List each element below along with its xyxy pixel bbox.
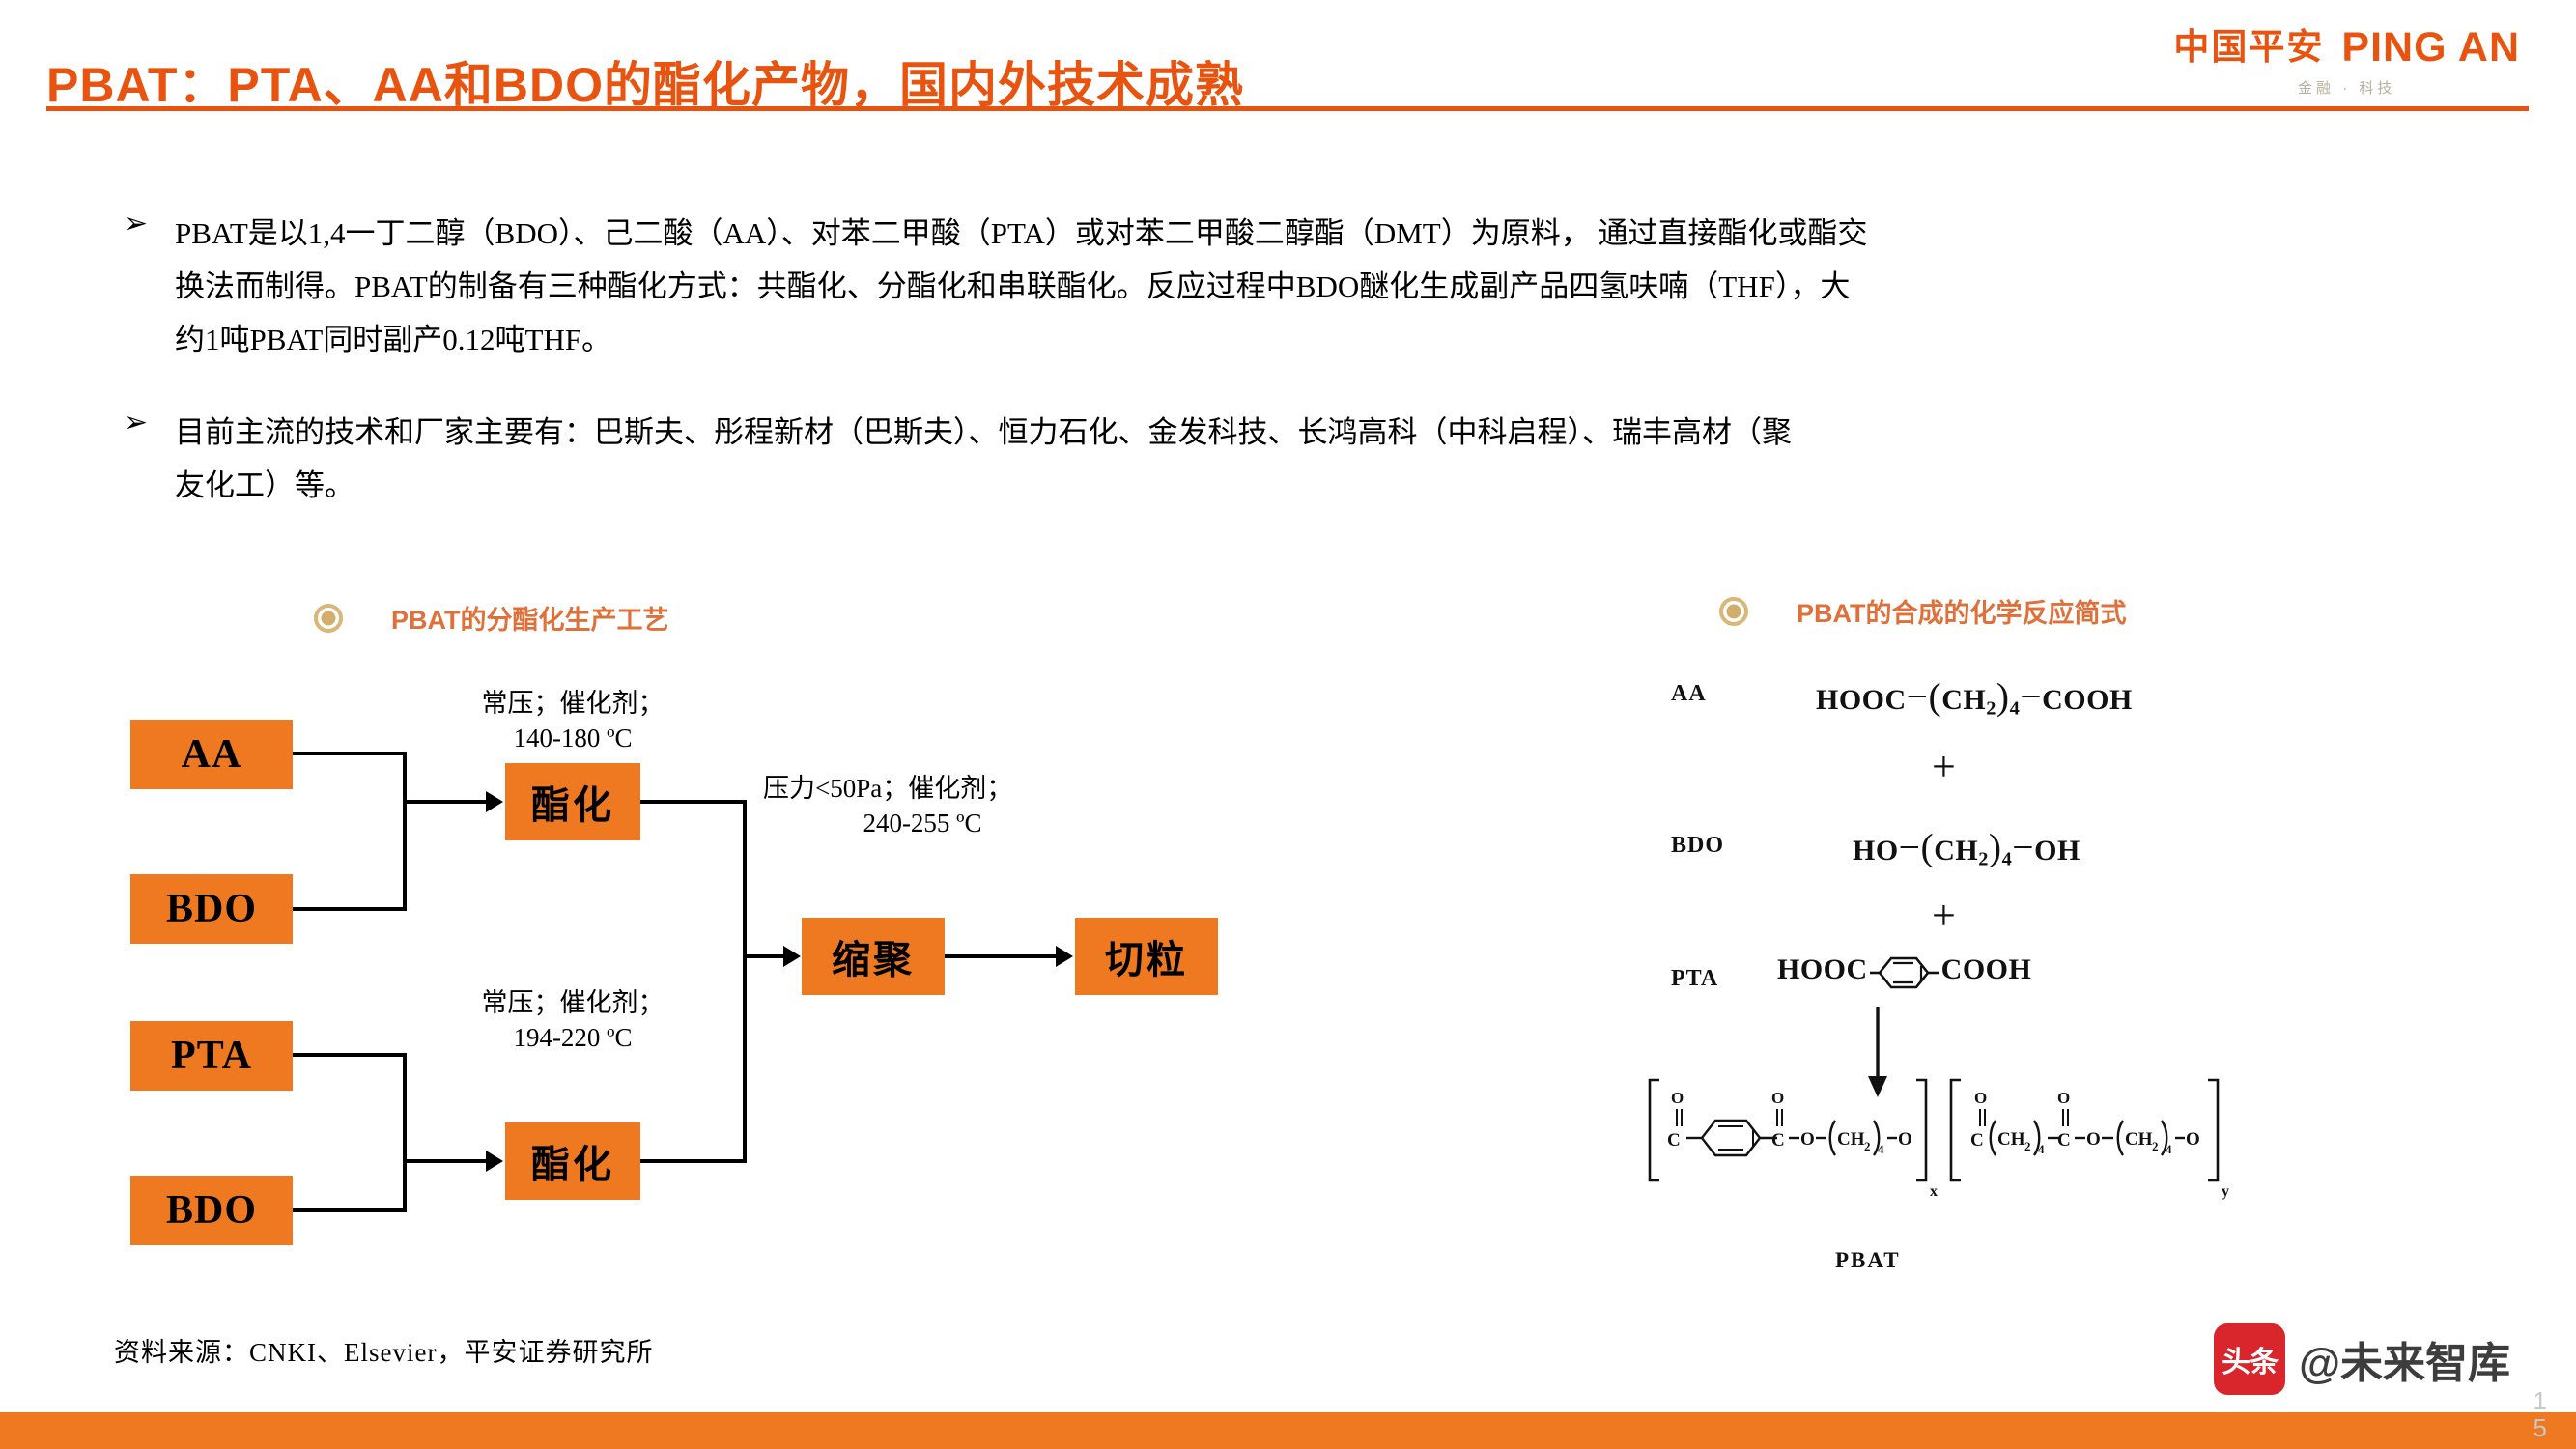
bullet-text: PBAT是以1,4一丁二醇（BDO）、己二酸（AA）、对苯二甲酸（PTA）或对苯… — [175, 207, 2519, 367]
page-number-line: 1 — [2534, 1388, 2547, 1414]
reactant-formula-bdo: HO−(CH2)4−OH — [1853, 825, 2081, 871]
flow-connector — [945, 954, 1056, 958]
process-flow-diagram: AA BDO PTA BDO 酯化 酯化 缩聚 切粒 常压；催化剂； — [0, 667, 1285, 1285]
section-heading-left: PBAT的分酯化生产工艺 — [314, 599, 669, 637]
flow-condition-middle: 压力<50Pa；催化剂； 240-255 ºC — [763, 771, 1082, 841]
logo-chinese-name: 中国平安 — [2173, 30, 2324, 66]
svg-text:C: C — [1970, 1130, 1984, 1151]
logo-tagline: 金融 · 科技 — [2173, 77, 2520, 98]
reactant-formula-aa: HOOC−(CH2)4−COOH — [1816, 674, 2133, 721]
flow-box-bdo-bottom: BDO — [130, 1176, 293, 1245]
svg-text:y: y — [2222, 1183, 2229, 1200]
bullet-line: PBAT是以1,4一丁二醇（BDO）、己二酸（AA）、对苯二甲酸（PTA）或对苯… — [175, 207, 2519, 260]
condition-line: 常压；催化剂； — [452, 686, 694, 721]
svg-text:C: C — [1667, 1130, 1681, 1151]
svg-text:2: 2 — [2024, 1139, 2031, 1153]
bullet-marker-icon: ➢ — [124, 409, 148, 438]
svg-text:2: 2 — [1864, 1139, 1871, 1153]
flow-box-aa: AA — [130, 720, 293, 789]
flow-arrowhead-icon — [783, 946, 801, 967]
svg-text:CH: CH — [2125, 1129, 2153, 1150]
bullet-dot-icon — [314, 604, 343, 633]
svg-text:CH: CH — [1997, 1129, 2025, 1150]
plus-sign-icon: + — [1932, 891, 1956, 940]
flow-connector — [403, 752, 407, 911]
bullet-line: 约1吨PBAT同时副产0.12吨THF。 — [175, 313, 2519, 366]
svg-text:O: O — [2186, 1129, 2200, 1150]
benzene-ring-icon — [1870, 952, 1939, 991]
chemical-reaction-diagram: AA HOOC−(CH2)4−COOH + BDO HO−(CH2)4−OH +… — [1642, 647, 2511, 1343]
section-heading-right: PBAT的合成的化学反应简式 — [1719, 592, 2127, 630]
bullet-item: ➢ PBAT是以1,4一丁二醇（BDO）、己二酸（AA）、对苯二甲酸（PTA）或… — [124, 207, 2519, 367]
bullet-item: ➢ 目前主流的技术和厂家主要有：巴斯夫、彤程新材（巴斯夫）、恒力石化、金发科技、… — [124, 406, 2519, 512]
pingan-logo: 中国平安 PING AN 金融 · 科技 — [2173, 27, 2520, 98]
flow-connector — [293, 1053, 407, 1057]
flow-arrowhead-icon — [486, 1151, 503, 1172]
svg-text:C: C — [2057, 1130, 2071, 1151]
flow-connector — [403, 1053, 407, 1212]
svg-text:CH: CH — [1837, 1129, 1865, 1150]
flow-connector — [403, 1159, 488, 1163]
title-divider — [46, 106, 2529, 111]
condition-line: 194-220 ºC — [452, 1020, 694, 1055]
reactant-tag-pta: PTA — [1671, 966, 1718, 992]
section-title-text: PBAT的分酯化生产工艺 — [391, 599, 669, 637]
flow-box-pelletizing: 切粒 — [1075, 918, 1218, 995]
polymer-structure: O C O C O CH — [1642, 1053, 2511, 1227]
condition-line: 140-180 ºC — [452, 721, 694, 755]
flow-box-bdo-top: BDO — [130, 874, 293, 944]
flow-condition-bottom: 常压；催化剂； 194-220 ºC — [452, 985, 694, 1056]
flow-connector — [640, 1159, 747, 1163]
svg-text:O: O — [1974, 1089, 1987, 1107]
logo-english-name: PING AN — [2341, 27, 2520, 69]
flow-connector — [293, 907, 407, 911]
flow-connector — [743, 954, 785, 958]
source-note: 资料来源：CNKI、Elsevier，平安证券研究所 — [114, 1331, 653, 1369]
flow-connector — [640, 800, 747, 804]
svg-text:x: x — [1930, 1183, 1938, 1200]
svg-text:4: 4 — [1878, 1142, 1884, 1156]
bullet-text: 目前主流的技术和厂家主要有：巴斯夫、彤程新材（巴斯夫）、恒力石化、金发科技、长鸿… — [175, 406, 2519, 512]
reactant-formula-pta: HOOC COOH — [1777, 952, 2031, 991]
condition-line: 240-255 ºC — [763, 806, 1082, 840]
svg-text:C: C — [1771, 1130, 1785, 1151]
flow-box-polycondensation: 缩聚 — [802, 918, 945, 995]
svg-text:O: O — [1771, 1089, 1784, 1107]
svg-text:O: O — [2057, 1089, 2070, 1107]
page-number: 1 5 — [2534, 1388, 2547, 1441]
bullet-marker-icon: ➢ — [124, 210, 148, 239]
condition-line: 常压；催化剂； — [452, 985, 694, 1020]
svg-text:O: O — [2086, 1129, 2101, 1150]
slide-root: 中国平安 PING AN 金融 · 科技 PBAT：PTA、AA和BDO的酯化产… — [0, 0, 2576, 1449]
flow-box-esterification-top: 酯化 — [505, 763, 640, 840]
flow-arrowhead-icon — [1056, 946, 1073, 967]
flow-condition-top: 常压；催化剂； 140-180 ºC — [452, 686, 694, 756]
svg-text:O: O — [1671, 1089, 1684, 1107]
plus-sign-icon: + — [1932, 742, 1956, 791]
watermark: 头条 @未来智库 — [2214, 1323, 2510, 1395]
flow-box-esterification-bottom: 酯化 — [505, 1122, 640, 1200]
page-number-line: 5 — [2534, 1415, 2547, 1441]
reactant-tag-bdo: BDO — [1671, 833, 1724, 859]
flow-connector — [403, 800, 488, 804]
bullet-line: 换法而制得。PBAT的制备有三种酯化方式：共酯化、分酯化和串联酯化。反应过程中B… — [175, 260, 2519, 313]
svg-text:O: O — [1800, 1129, 1815, 1150]
flow-arrowhead-icon — [486, 791, 503, 812]
toutiao-badge-icon: 头条 — [2214, 1323, 2285, 1395]
flow-connector — [293, 752, 407, 755]
bullet-list: ➢ PBAT是以1,4一丁二醇（BDO）、己二酸（AA）、对苯二甲酸（PTA）或… — [124, 207, 2519, 551]
flow-connector — [743, 800, 747, 1163]
flow-connector — [293, 1208, 407, 1212]
section-title-text: PBAT的合成的化学反应简式 — [1797, 592, 2127, 630]
bullet-line: 目前主流的技术和厂家主要有：巴斯夫、彤程新材（巴斯夫）、恒力石化、金发科技、长鸿… — [175, 406, 2519, 459]
svg-text:4: 4 — [2166, 1142, 2172, 1156]
condition-line: 压力<50Pa；催化剂； — [763, 771, 1082, 806]
bullet-line: 友化工）等。 — [175, 459, 2519, 512]
reactant-tag-aa: AA — [1671, 681, 1707, 707]
svg-text:O: O — [1898, 1129, 1912, 1150]
flow-box-pta: PTA — [130, 1021, 293, 1091]
pbat-polymer-svg: O C O C O CH — [1642, 1053, 2473, 1222]
svg-text:2: 2 — [2152, 1139, 2159, 1153]
footer-bar — [0, 1412, 2576, 1449]
svg-text:4: 4 — [2038, 1142, 2045, 1156]
product-label-pbat: PBAT — [1835, 1248, 1901, 1273]
watermark-text: @未来智库 — [2299, 1328, 2510, 1390]
bullet-dot-icon — [1719, 597, 1748, 626]
